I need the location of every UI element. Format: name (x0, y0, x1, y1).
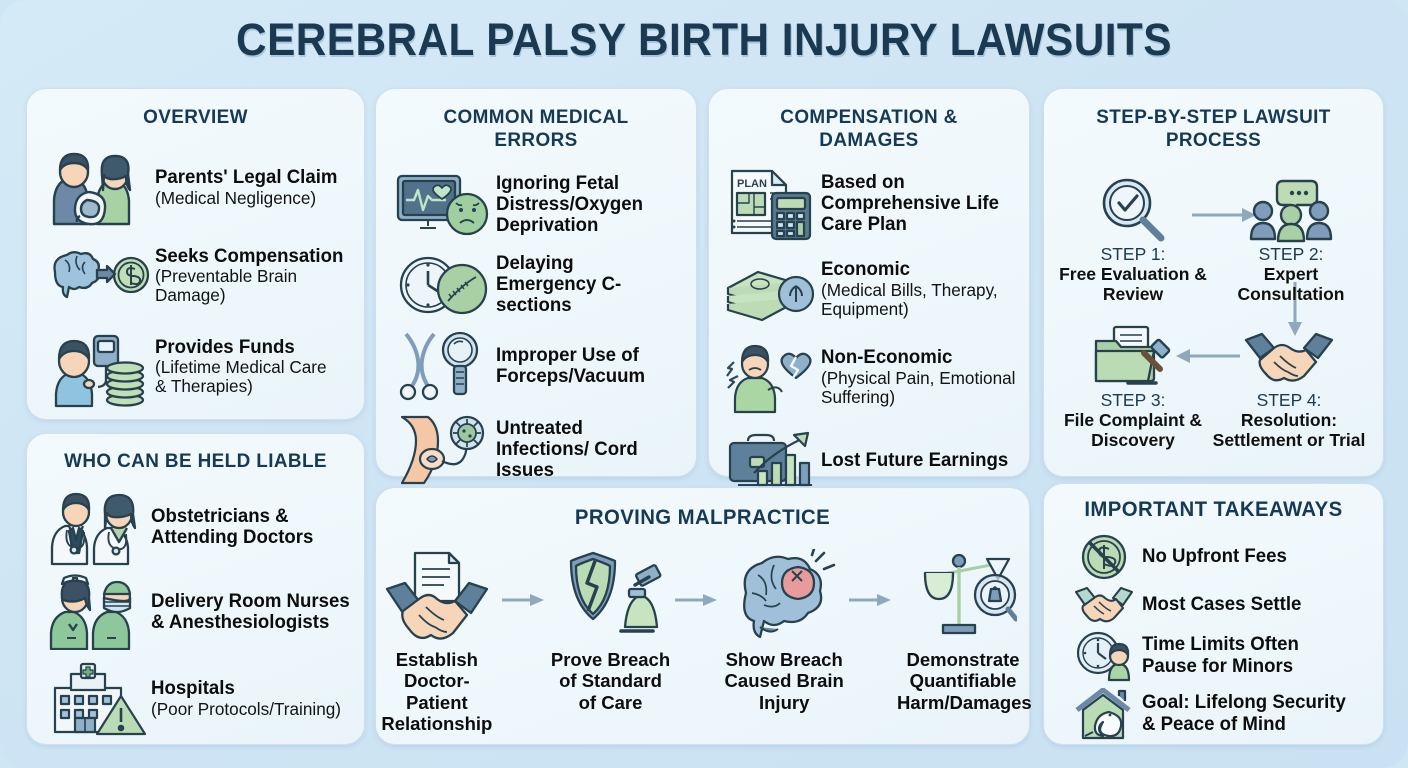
panel-proving-title: PROVING MALPRACTICE (386, 506, 1019, 531)
panel-overview-title: OVERVIEW (32, 106, 359, 129)
brain-to-money-icon (43, 246, 155, 306)
list-item-text: Obstetricians & Attending Doctors (151, 506, 317, 549)
two-doctors-icon (41, 488, 151, 566)
list-item: No Upfront Fees (1044, 531, 1383, 583)
list-item: Ignoring Fetal Distress/Oxygen Deprivati… (376, 164, 696, 246)
list-item: Goal: Lifelong Security & Peace of Mind (1044, 685, 1383, 743)
list-item: Non-Economic (Physical Pain, Emotional S… (709, 334, 1029, 422)
arrow-proving-1 (502, 547, 546, 608)
panel-proving: PROVING MALPRACTICE (375, 487, 1030, 745)
list-item-text: Goal: Lifelong Security & Peace of Mind (1142, 692, 1350, 735)
panel-compensation: COMPENSATION & DAMAGES PLAN (708, 88, 1030, 477)
panel-liable: WHO CAN BE HELD LIABLE (26, 433, 365, 745)
step-3: STEP 3: File Complaint & Discovery (1058, 324, 1208, 451)
file-folder-gavel-icon (1058, 324, 1208, 390)
broken-shield-gavel-icon (550, 547, 672, 643)
handshake-icon (1214, 328, 1364, 390)
infection-cord-icon (390, 415, 496, 485)
step-2-label: STEP 2: (1216, 244, 1366, 265)
scales-magnifier-icon (897, 547, 1029, 643)
panel-errors-title: COMMON MEDICAL ERRORS (381, 106, 691, 152)
step-4-label: STEP 4: (1214, 390, 1364, 411)
proving-step-1-caption: Establish Doctor-Patient Relationship (376, 649, 498, 736)
proving-step-2: Prove Breach of Standard of Care (550, 547, 672, 714)
step-3-label: STEP 3: (1058, 390, 1208, 411)
list-item-text: Seeks Compensation (Preventable Brain Da… (155, 246, 347, 306)
settle-handshake-icon (1066, 586, 1142, 624)
panel-liable-title: WHO CAN BE HELD LIABLE (32, 450, 359, 473)
step-1-label: STEP 1: (1058, 244, 1208, 265)
parents-with-baby-icon (43, 148, 155, 228)
list-item-text: Based on Comprehensive Life Care Plan (821, 172, 1013, 236)
list-item: PLAN (709, 162, 1029, 246)
panel-process: STEP-BY-STEP LAWSUIT PROCESS (1043, 88, 1384, 477)
clock-minor-icon (1066, 630, 1142, 682)
panel-errors: COMMON MEDICAL ERRORS (375, 88, 697, 477)
list-item-text: Improper Use of Forceps/Vacuum (496, 345, 665, 388)
list-item-text: Ignoring Fetal Distress/Oxygen Deprivati… (496, 173, 665, 237)
panel-takeaways-title: IMPORTANT TAKEAWAYS (1049, 498, 1378, 523)
panel-compensation-title: COMPENSATION & DAMAGES (714, 106, 1024, 152)
clock-delay-icon (390, 253, 496, 317)
list-item: Provides Funds (Lifetime Medical Care & … (27, 321, 364, 413)
document-handshake-icon (376, 547, 498, 643)
list-item: Time Limits Often Pause for Minors (1044, 627, 1383, 685)
step-4: STEP 4: Resolution: Settlement or Trial (1214, 328, 1364, 451)
briefcase-growth-chart-icon (721, 429, 821, 493)
emotional-pain-broken-heart-icon (721, 342, 821, 414)
infographic-canvas: CEREBRAL PALSY BIRTH INJURY LAWSUITS OVE… (0, 0, 1408, 768)
expert-group-chat-icon (1216, 176, 1366, 244)
list-item: Improper Use of Forceps/Vacuum (376, 324, 696, 409)
panel-takeaways: IMPORTANT TAKEAWAYS No Upfront Fees (1043, 483, 1384, 745)
hospital-warning-icon (41, 660, 151, 738)
list-item-text: Most Cases Settle (1142, 594, 1301, 615)
list-item-text: Delivery Room Nurses & Anesthesiologists (151, 591, 354, 634)
life-care-plan-calculator-icon: PLAN (721, 167, 821, 241)
forceps-vacuum-icon (390, 328, 496, 404)
list-item: Delaying Emergency C-sections (376, 246, 696, 324)
step-3-desc: File Complaint & Discovery (1058, 411, 1208, 451)
list-item-text: No Upfront Fees (1142, 546, 1287, 567)
list-item-text: Provides Funds (Lifetime Medical Care & … (155, 337, 341, 397)
panel-overview: OVERVIEW (26, 88, 365, 420)
list-item: Untreated Infections/ Cord Issues (376, 409, 696, 491)
list-item-text: Economic (Medical Bills, Therapy, Equipm… (821, 259, 1017, 319)
arrow-proving-3 (849, 547, 893, 608)
list-item-text: Parents' Legal Claim (Medical Negligence… (155, 167, 341, 208)
no-fees-icon (1066, 532, 1142, 582)
list-item: Economic (Medical Bills, Therapy, Equipm… (709, 246, 1029, 334)
cash-stack-icon (721, 258, 821, 322)
nurse-and-anesthesiologist-icon (41, 574, 151, 650)
proving-step-4: Demonstrate Quantifiable Harm/Damages (897, 547, 1029, 714)
step-1-desc: Free Evaluation & Review (1058, 265, 1208, 305)
magnifier-check-icon (1058, 176, 1208, 244)
child-patient-with-coins-icon (43, 326, 155, 408)
list-item: Obstetricians & Attending Doctors (27, 485, 364, 569)
svg-text:PLAN: PLAN (737, 178, 767, 190)
fetal-monitor-sad-face-icon (390, 170, 496, 240)
list-item-text: Lost Future Earnings (821, 450, 1008, 471)
panel-process-title: STEP-BY-STEP LAWSUIT PROCESS (1049, 106, 1378, 152)
list-item-text: Delaying Emergency C-sections (496, 253, 672, 317)
step-2: STEP 2: Expert Consultation (1216, 176, 1366, 305)
list-item: Parents' Legal Claim (Medical Negligence… (27, 145, 364, 231)
step-4-desc: Resolution: Settlement or Trial (1205, 411, 1373, 451)
list-item: Seeks Compensation (Preventable Brain Da… (27, 231, 364, 321)
arrow-proving-2 (675, 547, 719, 608)
step-1: STEP 1: Free Evaluation & Review (1058, 176, 1208, 305)
proving-step-4-caption: Demonstrate Quantifiable Harm/Damages (897, 649, 1029, 714)
proving-step-1: Establish Doctor-Patient Relationship (376, 547, 498, 736)
list-item-text: Time Limits Often Pause for Minors (1142, 634, 1302, 677)
list-item: Hospitals (Poor Protocols/Training) (27, 655, 364, 743)
home-dove-icon (1066, 688, 1142, 740)
list-item: Delivery Room Nurses & Anesthesiologists (27, 569, 364, 655)
page-title: CEREBRAL PALSY BIRTH INJURY LAWSUITS (42, 14, 1366, 66)
injured-brain-icon (723, 547, 845, 643)
list-item: Most Cases Settle (1044, 583, 1383, 627)
list-item-text: Non-Economic (Physical Pain, Emotional S… (821, 347, 1021, 407)
proving-step-3-caption: Show Breach Caused Brain Injury (723, 649, 845, 714)
step-2-desc: Expert Consultation (1216, 265, 1366, 305)
list-item-text: Hospitals (Poor Protocols/Training) (151, 678, 345, 719)
proving-step-2-caption: Prove Breach of Standard of Care (550, 649, 672, 714)
list-item-text: Untreated Infections/ Cord Issues (496, 418, 676, 482)
proving-step-3: Show Breach Caused Brain Injury (723, 547, 845, 714)
